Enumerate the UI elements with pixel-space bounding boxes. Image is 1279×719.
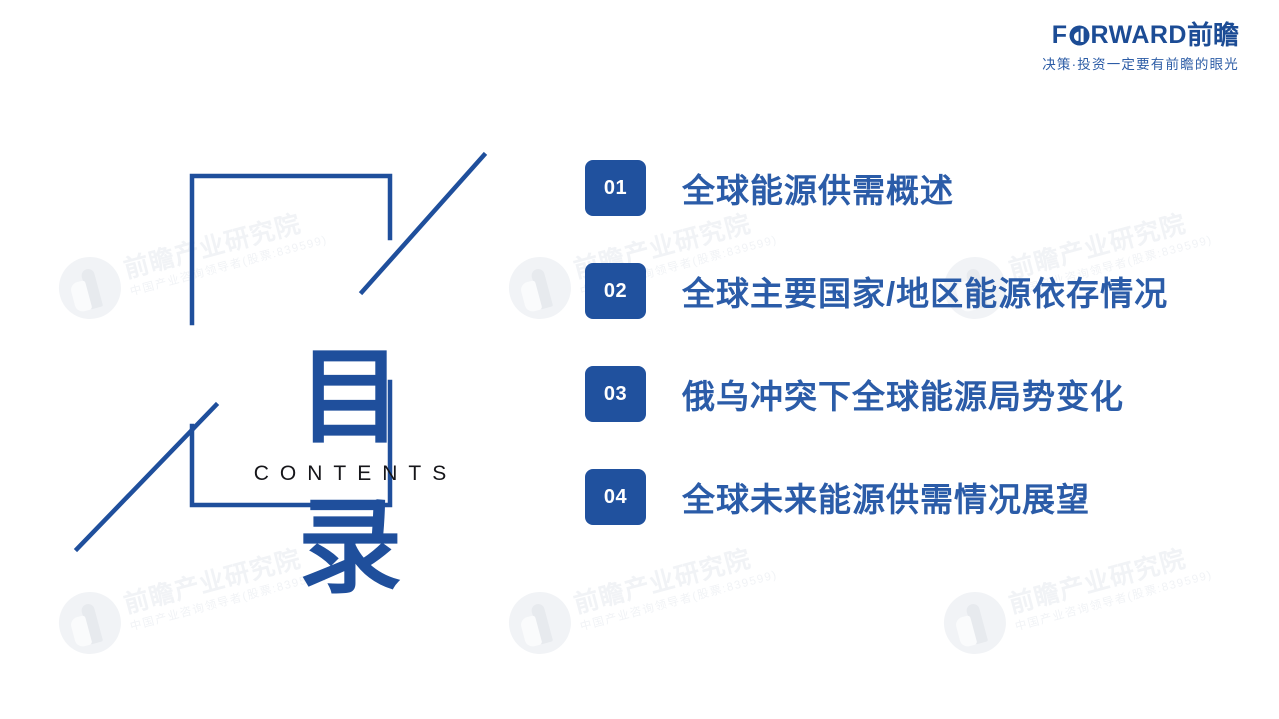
logo-letter-f: F <box>1052 22 1068 48</box>
toc-item[interactable]: 04 全球未来能源供需情况展望 <box>585 469 1225 525</box>
watermark-logo-icon <box>937 585 1013 661</box>
watermark-logo-icon <box>502 585 578 661</box>
contents-frame-lines <box>60 130 520 570</box>
logo-tagline: 决策·投资一定要有前瞻的眼光 <box>1042 53 1239 73</box>
watermark-logo-icon <box>52 585 128 661</box>
contents-decoration: 目 CONTENTS 录 <box>60 130 520 570</box>
watermark-subtitle: 中国产业咨询领导者(股票:839599) <box>1014 569 1215 636</box>
toc-item-label[interactable]: 全球主要国家/地区能源依存情况 <box>682 267 1168 315</box>
toc-item-label[interactable]: 全球未来能源供需情况展望 <box>682 473 1090 521</box>
toc-number-badge: 03 <box>585 366 646 422</box>
toc-item[interactable]: 02 全球主要国家/地区能源依存情况 <box>585 263 1225 319</box>
toc-item[interactable]: 03 俄乌冲突下全球能源局势变化 <box>585 366 1225 422</box>
logo-chinese-name: 前瞻 <box>1187 22 1239 48</box>
company-logo: F RWARD 前瞻 决策·投资一定要有前瞻的眼光 <box>1042 22 1239 73</box>
toc-item-label[interactable]: 俄乌冲突下全球能源局势变化 <box>682 370 1124 418</box>
contents-char-top: 目 <box>298 346 402 450</box>
toc-item[interactable]: 01 全球能源供需概述 <box>585 160 1225 216</box>
forward-circle-logo-icon <box>1069 25 1090 46</box>
contents-char-bottom: 录 <box>298 496 402 600</box>
logo-letters-rward: RWARD <box>1091 22 1187 48</box>
slide-canvas: 前瞻产业研究院 中国产业咨询领导者(股票:839599) 前瞻产业研究院 中国产… <box>0 0 1279 719</box>
logo-wordmark: F RWARD 前瞻 <box>1042 22 1239 48</box>
contents-latin-label: CONTENTS <box>180 462 520 486</box>
toc-number-badge: 02 <box>585 263 646 319</box>
watermark-subtitle: 中国产业咨询领导者(股票:839599) <box>579 569 780 636</box>
toc-item-label[interactable]: 全球能源供需概述 <box>682 164 954 212</box>
toc-number-badge: 01 <box>585 160 646 216</box>
toc-list: 01 全球能源供需概述 02 全球主要国家/地区能源依存情况 03 俄乌冲突下全… <box>585 160 1225 572</box>
toc-number-badge: 04 <box>585 469 646 525</box>
